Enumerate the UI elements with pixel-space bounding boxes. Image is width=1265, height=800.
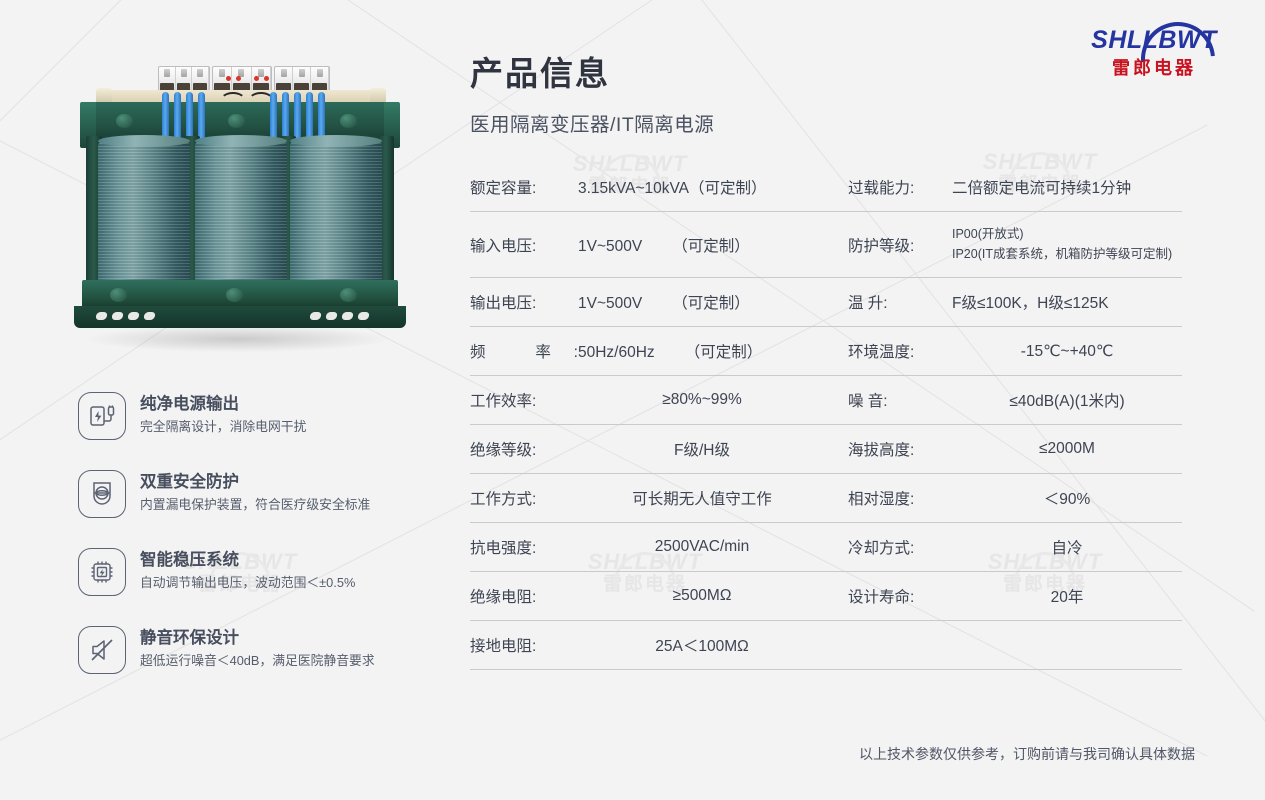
feature-description: 完全隔离设计，消除电网干扰 <box>140 419 306 436</box>
spec-label: 过载能力: <box>848 163 952 212</box>
spec-value-main: 50Hz/60Hz <box>578 344 655 361</box>
spec-value: F级/H级 <box>578 425 826 474</box>
table-row: 工作效率: ≥80%~99% 噪 音: ≤40dB(A)(1米内) <box>470 376 1182 425</box>
spec-label: 输出电压: <box>470 278 578 327</box>
spec-value-note: （可定制） <box>672 295 750 312</box>
spec-label: 绝缘电阻: <box>470 572 578 621</box>
product-image-transformer <box>40 48 440 358</box>
logo-text-en: SHLLBWT <box>1069 28 1239 53</box>
feature-title: 静音环保设计 <box>140 628 375 649</box>
power-plug-icon <box>78 392 126 440</box>
specifications-table: 额定容量: 3.15kVA~10kVA（可定制） 过载能力: 二倍额定电流可持续… <box>470 163 1182 670</box>
table-row: 工作方式: 可长期无人值守工作 相对湿度: ＜90% <box>470 474 1182 523</box>
spec-label: 海拔高度: <box>848 425 952 474</box>
table-row: 绝缘等级: F级/H级 海拔高度: ≤2000M <box>470 425 1182 474</box>
spec-label: 工作方式: <box>470 474 578 523</box>
spec-value: 可长期无人值守工作 <box>578 474 826 523</box>
feature-list: 纯净电源输出 完全隔离设计，消除电网干扰 双重安全防护 内置漏电保护装置，符合医… <box>78 392 448 674</box>
spec-label: 输入电压: <box>470 212 578 278</box>
page-subtitle: 医用隔离变压器/IT隔离电源 <box>470 108 1182 137</box>
spec-value-main: 1V~500V <box>578 295 642 312</box>
table-row: 抗电强度: 2500VAC/min 冷却方式: 自冷 <box>470 523 1182 572</box>
footer-disclaimer: 以上技术参数仅供参考，订购前请与我司确认具体数据 <box>859 744 1195 764</box>
table-row: 输出电压: 1V~500V（可定制） 温 升: F级≤100K，H级≤125K <box>470 278 1182 327</box>
feature-item-voltage-regulation: 智能稳压系统 自动调节输出电压，波动范围＜±0.5% <box>78 548 448 596</box>
spec-value: ≤2000M <box>952 425 1182 474</box>
feature-item-pure-power: 纯净电源输出 完全隔离设计，消除电网干扰 <box>78 392 448 440</box>
chip-voltage-icon <box>78 548 126 596</box>
spec-label: 设计寿命: <box>848 572 952 621</box>
spec-label: 噪 音: <box>848 376 952 425</box>
spec-value: 二倍额定电流可持续1分钟 <box>952 163 1182 212</box>
specifications-panel: 产品信息 医用隔离变压器/IT隔离电源 额定容量: 3.15kVA~10kVA（… <box>470 56 1182 670</box>
spec-value: IP00(开放式) IP20(IT成套系统，机箱防护等级可定制) <box>952 212 1182 278</box>
spec-label: 相对湿度: <box>848 474 952 523</box>
feature-item-silent-design: 静音环保设计 超低运行噪音＜40dB，满足医院静音要求 <box>78 626 448 674</box>
spec-value-note: （可定制） <box>685 344 763 361</box>
table-row: 频 率: 50Hz/60Hz（可定制） 环境温度: -15℃~+40℃ <box>470 327 1182 376</box>
spec-label: 频 率: <box>470 327 578 376</box>
feature-item-dual-safety: 双重安全防护 内置漏电保护装置，符合医疗级安全标准 <box>78 470 448 518</box>
spec-label: 防护等级: <box>848 212 952 278</box>
spec-value-line2: IP20(IT成套系统，机箱防护等级可定制) <box>952 245 1182 264</box>
spec-label: 冷却方式: <box>848 523 952 572</box>
spec-value: 50Hz/60Hz（可定制） <box>578 327 826 376</box>
spec-label: 环境温度: <box>848 327 952 376</box>
spec-value: 25A＜100MΩ <box>578 621 826 670</box>
transformer-coil <box>290 140 382 286</box>
shield-protection-icon <box>78 470 126 518</box>
feature-description: 自动调节输出电压，波动范围＜±0.5% <box>140 575 355 592</box>
feature-title: 纯净电源输出 <box>140 394 306 415</box>
spec-value <box>952 621 1182 670</box>
spec-value: 1V~500V（可定制） <box>578 212 826 278</box>
feature-description: 内置漏电保护装置，符合医疗级安全标准 <box>140 497 370 514</box>
spec-value-note: （可定制） <box>672 238 750 255</box>
spec-value: 20年 <box>952 572 1182 621</box>
spec-value: ≥80%~99% <box>578 376 826 425</box>
transformer-coil <box>98 140 190 286</box>
brand-logo: SHLLBWT 雷郎电器 <box>1069 28 1239 77</box>
spec-value: ≤40dB(A)(1米内) <box>952 376 1182 425</box>
spec-label: 绝缘等级: <box>470 425 578 474</box>
spec-value: -15℃~+40℃ <box>952 327 1182 376</box>
spec-label: 温 升: <box>848 278 952 327</box>
spec-value: F级≤100K，H级≤125K <box>952 278 1182 327</box>
spec-label: 工作效率: <box>470 376 578 425</box>
spec-label: 抗电强度: <box>470 523 578 572</box>
spec-value-line1: IP00(开放式) <box>952 225 1182 244</box>
spec-label <box>848 621 952 670</box>
spec-value: 3.15kVA~10kVA（可定制） <box>578 163 826 212</box>
spec-value: 自冷 <box>952 523 1182 572</box>
spec-label: 额定容量: <box>470 163 578 212</box>
spec-value: ＜90% <box>952 474 1182 523</box>
table-row: 绝缘电阻: ≥500MΩ 设计寿命: 20年 <box>470 572 1182 621</box>
spec-value: 1V~500V（可定制） <box>578 278 826 327</box>
transformer-coil <box>195 140 287 286</box>
feature-description: 超低运行噪音＜40dB，满足医院静音要求 <box>140 653 375 670</box>
spec-value-main: 1V~500V <box>578 238 642 255</box>
spec-value: ≥500MΩ <box>578 572 826 621</box>
table-row: 接地电阻: 25A＜100MΩ <box>470 621 1182 670</box>
table-row: 额定容量: 3.15kVA~10kVA（可定制） 过载能力: 二倍额定电流可持续… <box>470 163 1182 212</box>
feature-title: 双重安全防护 <box>140 472 370 493</box>
logo-text-cn: 雷郎电器 <box>1069 59 1239 77</box>
feature-title: 智能稳压系统 <box>140 550 355 571</box>
mute-speaker-icon <box>78 626 126 674</box>
spec-value: 2500VAC/min <box>578 523 826 572</box>
spec-label: 接地电阻: <box>470 621 578 670</box>
table-row: 输入电压: 1V~500V（可定制） 防护等级: IP00(开放式) IP20(… <box>470 212 1182 278</box>
